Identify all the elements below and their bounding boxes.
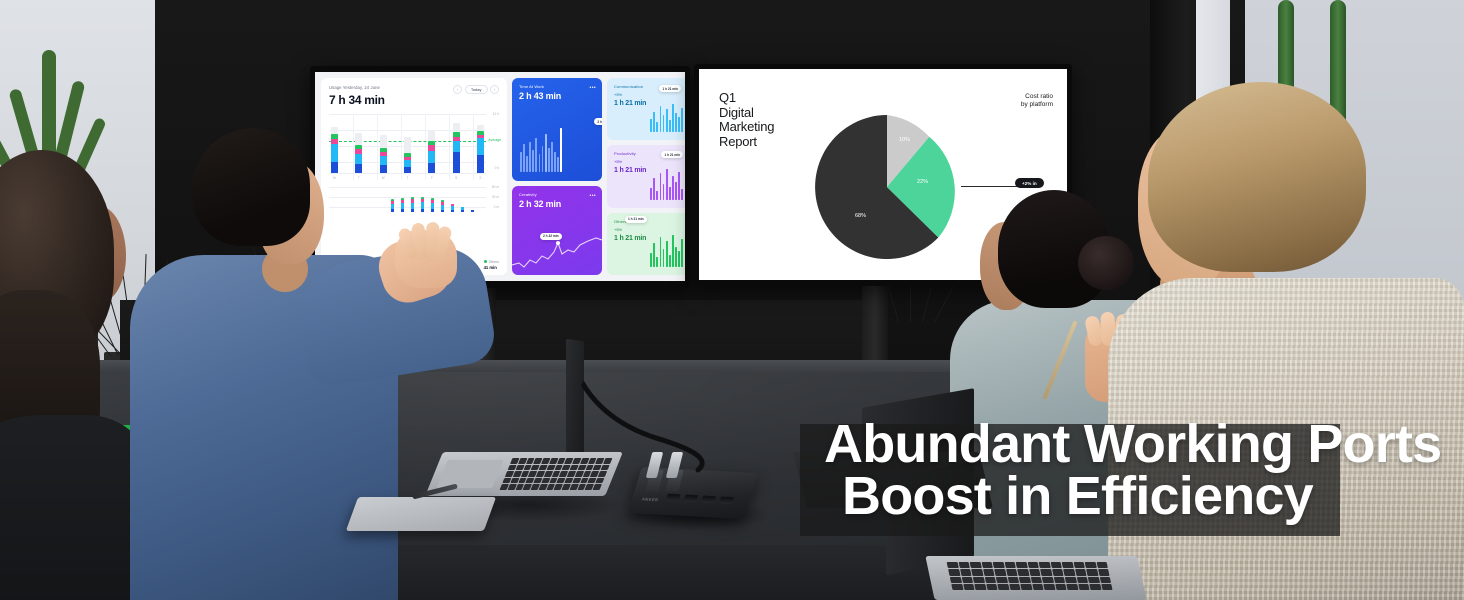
hour-bar xyxy=(431,198,434,212)
hub-port xyxy=(683,495,698,503)
today-button[interactable]: Today xyxy=(465,85,488,94)
card-minibars xyxy=(520,128,594,172)
x-axis-labels: M T W T F S S xyxy=(331,176,484,180)
card-minibars xyxy=(650,102,683,132)
slide-title-line: Report xyxy=(719,135,774,150)
y-axis-max: 12 h xyxy=(493,112,499,116)
card-title: Creativity xyxy=(519,192,595,197)
card-tooltip: 1 h 21 min xyxy=(659,85,681,92)
conference-room-photo: Usage Yesterday, 24 June 7 h 34 min ‹ To… xyxy=(0,0,1464,600)
card-minibars xyxy=(650,168,683,200)
card-value: 2 h 43 min xyxy=(519,91,595,101)
hour-bar xyxy=(421,197,424,212)
card-tooltip: 1 h 21 min xyxy=(661,151,683,158)
legend-label: Others xyxy=(489,260,499,264)
legend-value: 41 min xyxy=(484,265,499,270)
legend-item-others: Others 41 min xyxy=(484,260,499,271)
usage-total: 7 h 34 min xyxy=(329,93,385,107)
laptop-base-right-2 xyxy=(925,556,1146,600)
hour-bar xyxy=(471,210,474,212)
corner-label-line: Cost ratio xyxy=(1021,93,1053,101)
pie-svg xyxy=(807,107,967,267)
next-day-button[interactable]: › xyxy=(490,85,499,94)
card-title: Time At Work xyxy=(519,84,595,89)
cost-ratio-pie-chart: 10% 22% 68% xyxy=(807,107,967,267)
hair-man-denim xyxy=(192,128,310,246)
x-label: W xyxy=(380,176,387,180)
laptop-trackpad[interactable] xyxy=(436,460,503,488)
slide-title-line: Q1 xyxy=(719,91,774,106)
pie-label-10: 10% xyxy=(899,137,910,143)
card-percent: +5% xyxy=(614,159,682,164)
hair-bun-woman-blazer xyxy=(1078,236,1134,290)
usage-subtitle: Usage Yesterday, 24 June xyxy=(329,85,385,90)
hour-bar xyxy=(411,197,414,212)
y2-label: 60 m xyxy=(492,185,499,189)
hour-bar xyxy=(401,198,404,212)
card-creativity[interactable]: ••• Creativity 2 h 32 min 2 h 32 min xyxy=(512,186,602,275)
card-others[interactable]: Others +5% 1 h 21 min 1 h 21 min xyxy=(607,213,685,275)
headline-line-2: Boost in Efficiency xyxy=(824,470,1464,522)
hub-port xyxy=(701,496,716,504)
usage-header-text: Usage Yesterday, 24 June 7 h 34 min xyxy=(329,85,385,107)
y2-label: 0 m xyxy=(494,205,499,209)
bar-tue xyxy=(355,116,362,173)
torso-woman-left xyxy=(0,415,150,600)
card-percent: +5% xyxy=(614,92,682,97)
y2-label: 30 m xyxy=(492,195,499,199)
bar-sat xyxy=(453,116,460,173)
weekly-stacked-bar-chart: 12 h 0 h Average xyxy=(329,114,499,180)
x-label: T xyxy=(355,176,362,180)
dashboard-column-2: ••• Time At Work 2 h 43 min 2 h 3 xyxy=(512,78,602,275)
pie-label-22: 22% xyxy=(917,179,928,185)
hand-man-denim-pointing xyxy=(395,230,457,288)
average-label: Average xyxy=(488,138,501,142)
x-label: S xyxy=(453,176,460,180)
hourly-bar-chart: 60 m 30 m 0 m xyxy=(329,185,499,219)
card-menu-icon[interactable]: ••• xyxy=(590,85,596,91)
left-monitor-screen: Usage Yesterday, 24 June 7 h 34 min ‹ To… xyxy=(315,72,685,281)
bar-mon xyxy=(331,116,338,173)
y-axis-min: 0 h xyxy=(495,166,499,170)
pie-label-68: 68% xyxy=(855,213,866,219)
corner-label-line: by platform xyxy=(1021,101,1053,109)
slide-title-line: Digital xyxy=(719,106,774,121)
date-nav[interactable]: ‹ Today › xyxy=(453,85,499,94)
x-label: M xyxy=(331,176,338,180)
card-percent: +5% xyxy=(614,227,682,232)
bar-group xyxy=(331,116,484,173)
bar-fri xyxy=(428,116,435,173)
marketing-headline: Abundant Working Ports Boost in Efficien… xyxy=(824,418,1464,523)
card-productivity[interactable]: Productivity +5% 1 h 21 min 1 h 21 min xyxy=(607,145,685,207)
dashboard-column-3: Communication +5% 1 h 21 min 1 h 21 min xyxy=(607,78,685,275)
card-tooltip: 2 h 30 min xyxy=(594,118,602,125)
laptop-keyboard-right[interactable] xyxy=(947,562,1113,590)
x-label: F xyxy=(428,176,435,180)
bar-thu xyxy=(404,116,411,173)
hour-bar xyxy=(461,207,464,212)
prev-day-button[interactable]: ‹ xyxy=(453,85,462,94)
card-menu-icon[interactable]: ••• xyxy=(590,193,596,199)
hair-man-blond xyxy=(1148,82,1366,272)
callout-badge: +2% in xyxy=(1015,178,1044,188)
x-label: S xyxy=(477,176,484,180)
time-tracking-dashboard: Usage Yesterday, 24 June 7 h 34 min ‹ To… xyxy=(315,72,685,281)
card-value: 2 h 32 min xyxy=(519,199,595,209)
card-tooltip: 2 h 32 min xyxy=(540,233,562,240)
hour-bar xyxy=(441,200,444,212)
hour-bar xyxy=(451,204,454,212)
card-tooltip: 1 h 21 min xyxy=(625,216,647,223)
card-minibars xyxy=(650,235,683,267)
slide-title-line: Marketing xyxy=(719,120,774,135)
notebook-pad xyxy=(346,497,496,531)
hub-port xyxy=(666,494,681,502)
x-label: T xyxy=(404,176,411,180)
hourly-bar-group xyxy=(331,187,484,212)
bar-wed xyxy=(380,116,387,173)
hour-bar xyxy=(391,199,394,212)
hub-port xyxy=(719,497,734,505)
callout-leader-line xyxy=(961,186,1019,187)
legend-dot-others xyxy=(484,260,487,263)
usage-header: Usage Yesterday, 24 June 7 h 34 min ‹ To… xyxy=(329,85,499,107)
slide-corner-label: Cost ratio by platform xyxy=(1021,93,1053,109)
card-time-at-work[interactable]: ••• Time At Work 2 h 43 min 2 h 3 xyxy=(512,78,602,181)
hub-brand-label: ANKER xyxy=(641,496,659,502)
headline-line-1: Abundant Working Ports xyxy=(824,414,1441,474)
card-communication[interactable]: Communication +5% 1 h 21 min 1 h 21 min xyxy=(607,78,685,140)
bar-sun xyxy=(477,116,484,173)
slide-title: Q1 Digital Marketing Report xyxy=(719,91,774,149)
